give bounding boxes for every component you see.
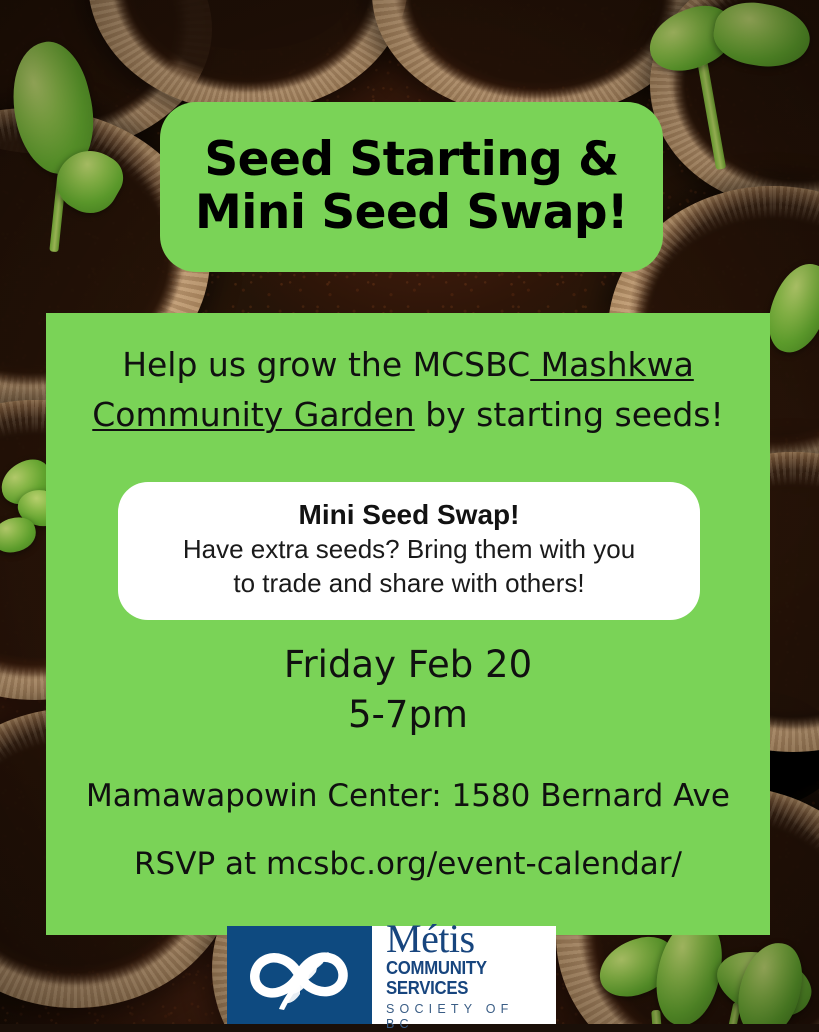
mini-seed-swap-heading: Mini Seed Swap!	[299, 498, 520, 532]
mini-seed-swap-body-line-2: to trade and share with others!	[233, 567, 584, 600]
metis-community-services-logo: Métis COMMUNITY SERVICES SOCIETY OF BC	[227, 926, 556, 1024]
logo-region: SOCIETY OF BC	[386, 1002, 546, 1032]
event-time: 5-7pm	[46, 690, 770, 740]
logo-name: Métis	[386, 919, 546, 958]
poster-title-line-1: Seed Starting &	[204, 135, 618, 186]
logo-wordmark-panel: Métis COMMUNITY SERVICES SOCIETY OF BC	[372, 926, 556, 1024]
poster-title-line-2: Mini Seed Swap!	[195, 188, 628, 239]
mini-seed-swap-body-line-1: Have extra seeds? Bring them with you	[183, 533, 635, 566]
logo-tagline: COMMUNITY SERVICES	[386, 959, 535, 999]
logo-mark-panel	[227, 926, 372, 1024]
poster-body-panel: Help us grow the MCSBC Mashkwa Community…	[46, 313, 770, 935]
poster-title-card: Seed Starting & Mini Seed Swap!	[160, 102, 663, 272]
event-rsvp-link[interactable]: RSVP at mcsbc.org/event-calendar/	[46, 846, 770, 882]
intro-text-before: Help us grow the MCSBC	[122, 345, 530, 384]
event-date: Friday Feb 20	[46, 640, 770, 690]
event-when-block: Friday Feb 20 5-7pm	[46, 640, 770, 741]
intro-text-after: by starting seeds!	[415, 395, 724, 434]
event-venue: Mamawapowin Center: 1580 Bernard Ave	[46, 778, 770, 814]
mini-seed-swap-card: Mini Seed Swap! Have extra seeds? Bring …	[118, 482, 700, 620]
metis-infinity-feather-icon	[238, 938, 362, 1012]
intro-paragraph: Help us grow the MCSBC Mashkwa Community…	[46, 340, 770, 440]
